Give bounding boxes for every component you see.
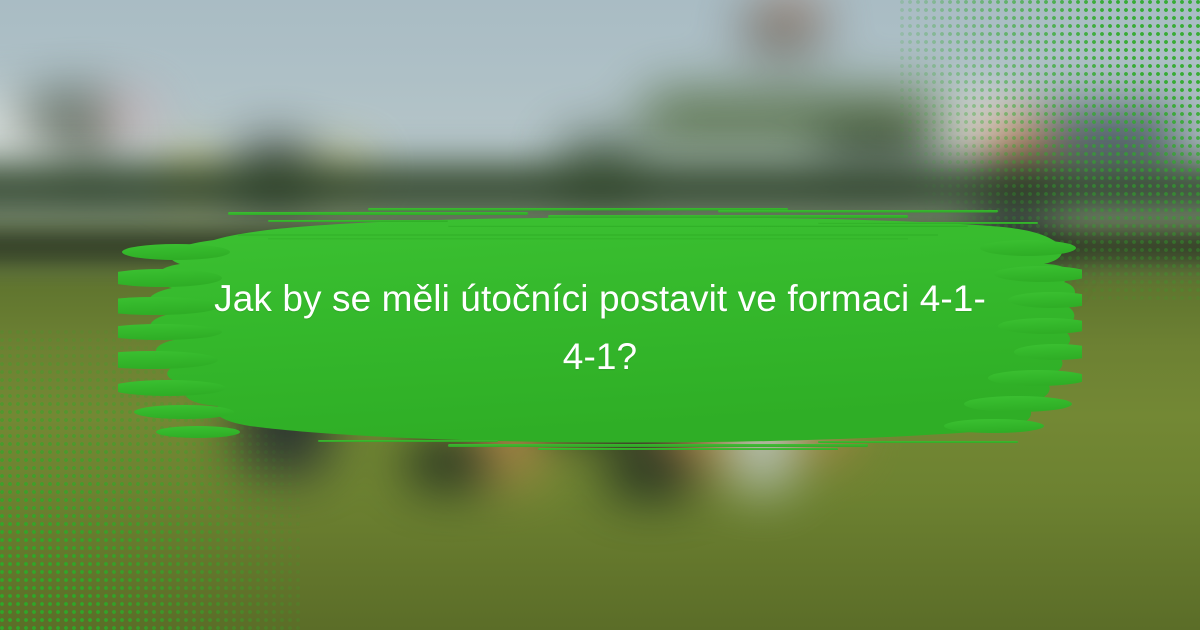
page-title: Jak by se měli útočníci postavit ve form… <box>0 270 1200 386</box>
player-boot-right-shape <box>608 448 694 496</box>
green-hedge-shape <box>640 90 940 150</box>
headline-text: Jak by se měli útočníci postavit ve form… <box>214 278 986 377</box>
red-flag-shape <box>105 98 155 132</box>
dark-pole-shape <box>28 95 62 140</box>
social-share-card: Jak by se měli útočníci postavit ve form… <box>0 0 1200 630</box>
